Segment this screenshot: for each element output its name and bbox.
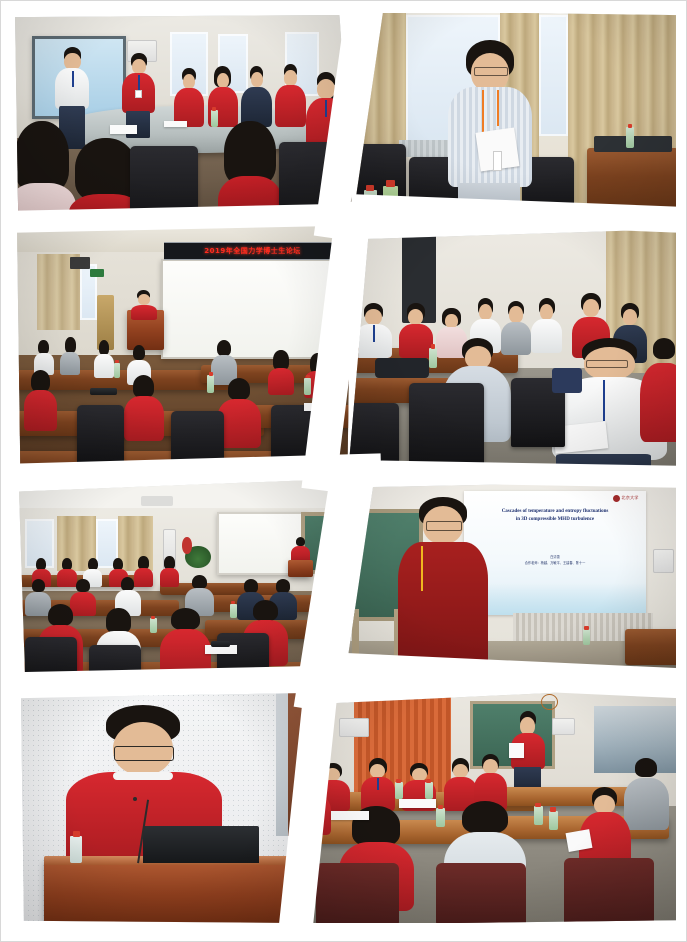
photo-panel-top-right	[354, 11, 678, 219]
led-banner: 2019年全国力学博士生论坛	[164, 243, 341, 259]
slide-title-line-2: in 3D compressible MHD turbulence	[516, 517, 594, 522]
photo-image-podium-closeup	[21, 693, 311, 923]
standing-presenter	[511, 711, 545, 792]
photo-image-classroom-wide	[19, 479, 339, 687]
collage-stage: 2019年全国力学博士生论坛	[1, 1, 687, 942]
led-banner-text: 2019年全国力学博士生论坛	[204, 246, 300, 256]
university-seal-icon	[613, 495, 620, 502]
photo-image-top-left	[15, 15, 353, 227]
university-logo: 北京大学	[613, 495, 639, 502]
frame-bottom	[1, 923, 687, 942]
podium	[44, 859, 293, 923]
frame-top	[1, 1, 687, 13]
university-name: 北京大学	[622, 495, 639, 501]
projection-screen-icon	[161, 259, 345, 359]
water-bottle-icon	[70, 836, 82, 864]
photo-panel-top-left	[15, 15, 353, 227]
photo-collage: 2019年全国力学博士生论坛	[0, 0, 687, 942]
photo-panel-auditorium: 2019年全国力学博士生论坛	[17, 219, 351, 471]
photo-image-auditorium: 2019年全国力学博士生论坛	[17, 219, 351, 471]
photo-panel-classroom-session	[301, 687, 676, 925]
photo-image-classroom-session	[301, 687, 676, 925]
slide-subtitle: 白清蕾 合作老师：杨越、万敏平、王建春、陈十一	[482, 555, 628, 565]
slide-title: Cascades of temperature and entropy fluc…	[475, 508, 635, 523]
photo-image-top-right	[354, 11, 678, 219]
photo-panel-classroom-audience	[341, 229, 681, 477]
slide-author: 白清蕾	[550, 555, 560, 559]
presenter-figure	[401, 497, 485, 681]
photo-image-presenter-slide: Cascades of temperature and entropy fluc…	[331, 481, 681, 681]
photo-panel-presenter-slide: Cascades of temperature and entropy fluc…	[331, 481, 681, 681]
photo-panel-classroom-wide	[19, 479, 339, 687]
photo-panel-podium-closeup	[21, 693, 311, 923]
slide-title-line-1: Cascades of temperature and entropy fluc…	[502, 509, 609, 514]
frame-left	[1, 1, 15, 942]
laptop-icon	[143, 826, 259, 863]
photo-image-classroom-audience	[341, 229, 681, 477]
slide-coauthors: 合作老师：杨越、万敏平、王建春、陈十一	[525, 561, 586, 565]
projected-slide: Cascades of temperature and entropy fluc…	[464, 491, 646, 615]
speaker-figure	[448, 40, 532, 219]
